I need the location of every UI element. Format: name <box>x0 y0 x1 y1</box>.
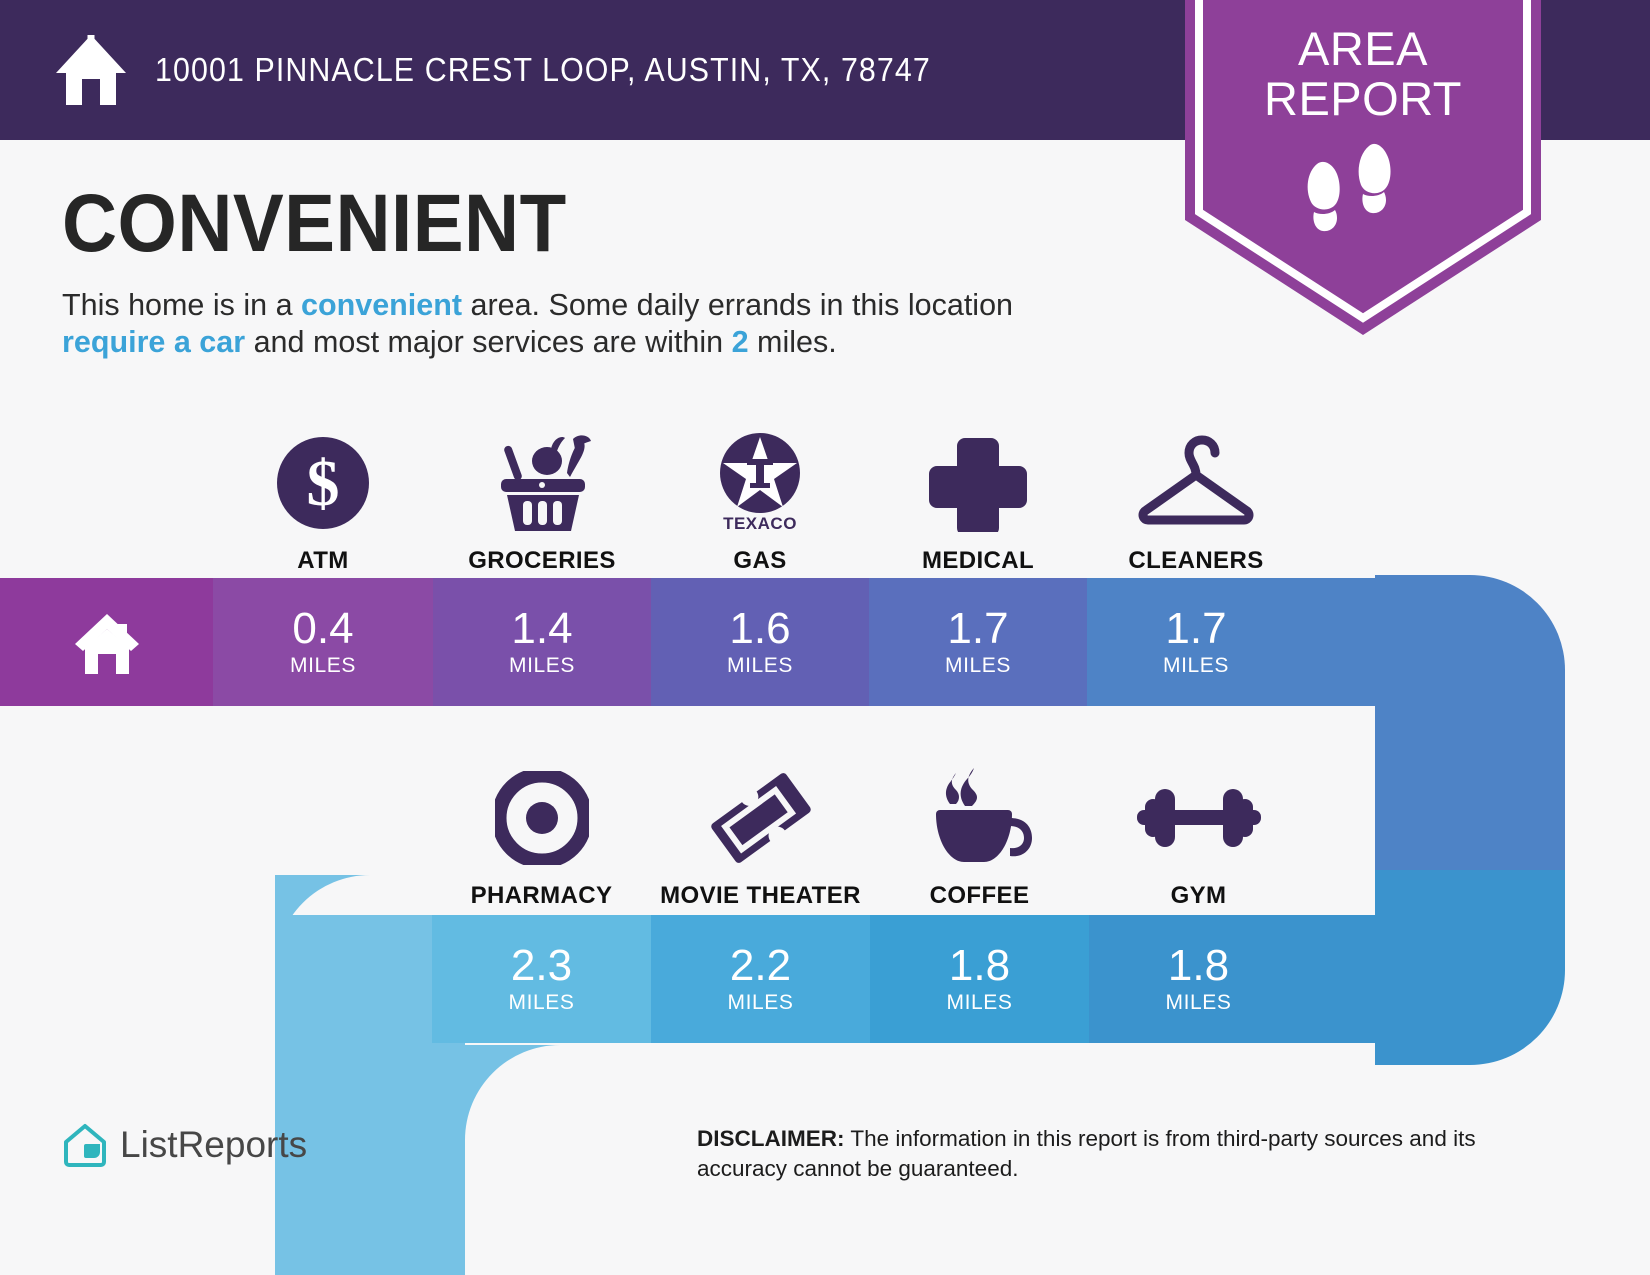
listreports-house-icon <box>62 1122 108 1168</box>
svg-text:TEXACO: TEXACO <box>723 514 797 533</box>
brand-name: ListReports <box>120 1124 307 1166</box>
amenity-label: GROCERIES <box>468 547 616 575</box>
amenity-label: CLEANERS <box>1128 547 1263 575</box>
amenity-gas[interactable]: TEXACO GAS <box>651 420 869 575</box>
distance-unit: MILES <box>727 991 793 1015</box>
distance-cell-medical[interactable]: 1.7 MILES <box>869 578 1087 706</box>
amenity-label: MEDICAL <box>922 547 1034 575</box>
distance-unit: MILES <box>1163 654 1229 678</box>
clothes-hanger-icon <box>1131 433 1261 533</box>
icon-row-1: $ ATM <box>213 420 1385 575</box>
desc-part-2: area. Some daily errands in this locatio… <box>462 288 1013 322</box>
distance-cell-cleaners[interactable]: 1.7 MILES <box>1087 578 1375 706</box>
desc-highlight-1: convenient <box>301 288 462 322</box>
amenity-cleaners[interactable]: CLEANERS <box>1087 420 1305 575</box>
distance-value: 1.8 <box>949 944 1010 988</box>
distance-unit: MILES <box>509 654 575 678</box>
distance-value: 1.6 <box>729 607 790 651</box>
distance-unit: MILES <box>727 654 793 678</box>
distance-cell-groceries[interactable]: 1.4 MILES <box>433 578 651 706</box>
distance-cell-gym[interactable]: 1.8 MILES <box>1089 915 1375 1043</box>
amenity-label: MOVIE THEATER <box>660 882 861 910</box>
description-text: This home is in a convenient area. Some … <box>62 287 1102 361</box>
distance-unit: MILES <box>1165 991 1231 1015</box>
icon-row-2: PHARMACY MOVIE THEATER COFFE <box>432 760 1308 910</box>
medical-cross-icon <box>929 433 1027 533</box>
distance-value: 1.4 <box>511 607 572 651</box>
distance-value: 0.4 <box>292 607 353 651</box>
distance-unit: MILES <box>290 654 356 678</box>
desc-part-3: and most major services are within <box>245 325 731 359</box>
dumbbell-icon <box>1133 768 1265 868</box>
home-icon <box>71 610 143 674</box>
movie-ticket-icon <box>707 768 815 868</box>
distance-cell-atm[interactable]: 0.4 MILES <box>213 578 433 706</box>
property-address: 10001 PINNACLE CREST LOOP, AUSTIN, TX, 7… <box>155 51 931 89</box>
amenity-label: COFFEE <box>930 882 1030 910</box>
badge-line-2: REPORT <box>1185 74 1541 124</box>
amenity-label: ATM <box>297 547 348 575</box>
amenity-atm[interactable]: $ ATM <box>213 420 433 575</box>
amenity-movie-theater[interactable]: MOVIE THEATER <box>651 760 870 910</box>
distance-cell-pharmacy[interactable]: 2.3 MILES <box>432 915 651 1043</box>
distance-bar-row-1: 0.4 MILES 1.4 MILES 1.6 MILES 1.7 MILES … <box>0 578 1375 706</box>
page-title: CONVENIENT <box>62 183 567 265</box>
home-marker <box>0 578 213 706</box>
desc-highlight-3: 2 <box>732 325 749 359</box>
amenity-label: GYM <box>1171 882 1227 910</box>
amenity-pharmacy[interactable]: PHARMACY <box>432 760 651 910</box>
area-report-badge: AREA REPORT <box>1185 0 1541 335</box>
desc-part-4: miles. <box>749 325 837 359</box>
distance-unit: MILES <box>945 654 1011 678</box>
amenity-label: PHARMACY <box>471 882 613 910</box>
amenity-gym[interactable]: GYM <box>1089 760 1308 910</box>
distance-value: 2.2 <box>730 944 791 988</box>
row2-lead-segment <box>275 915 432 1043</box>
distance-cell-gas[interactable]: 1.6 MILES <box>651 578 869 706</box>
amenity-medical[interactable]: MEDICAL <box>869 420 1087 575</box>
coffee-cup-icon <box>926 768 1034 868</box>
home-icon <box>52 33 130 107</box>
badge-title: AREA REPORT <box>1185 24 1541 124</box>
distance-cell-movie-theater[interactable]: 2.2 MILES <box>651 915 870 1043</box>
listreports-logo[interactable]: ListReports <box>62 1122 307 1168</box>
desc-highlight-2: require a car <box>62 325 245 359</box>
distance-unit: MILES <box>946 991 1012 1015</box>
disclaimer: DISCLAIMER: The information in this repo… <box>697 1124 1507 1184</box>
amenity-groceries[interactable]: GROCERIES <box>433 420 651 575</box>
amenity-label: GAS <box>733 547 786 575</box>
distance-bar-row-2: 2.3 MILES 2.2 MILES 1.8 MILES 1.8 MILES <box>275 915 1375 1043</box>
distance-value: 1.7 <box>1165 607 1226 651</box>
bullseye-target-icon <box>495 768 589 868</box>
dollar-circle-icon: $ <box>273 433 373 533</box>
distance-value: 2.3 <box>511 944 572 988</box>
distance-value: 1.8 <box>1168 944 1229 988</box>
distance-value: 1.7 <box>947 607 1008 651</box>
distance-cell-coffee[interactable]: 1.8 MILES <box>870 915 1089 1043</box>
svg-text:$: $ <box>307 447 340 520</box>
distance-unit: MILES <box>508 991 574 1015</box>
badge-line-1: AREA <box>1185 24 1541 74</box>
footprints-icon <box>1303 142 1423 237</box>
texaco-star-icon: TEXACO <box>709 433 811 533</box>
amenity-coffee[interactable]: COFFEE <box>870 760 1089 910</box>
desc-part-1: This home is in a <box>62 288 301 322</box>
grocery-basket-icon <box>485 433 600 533</box>
disclaimer-label: DISCLAIMER: <box>697 1126 845 1151</box>
